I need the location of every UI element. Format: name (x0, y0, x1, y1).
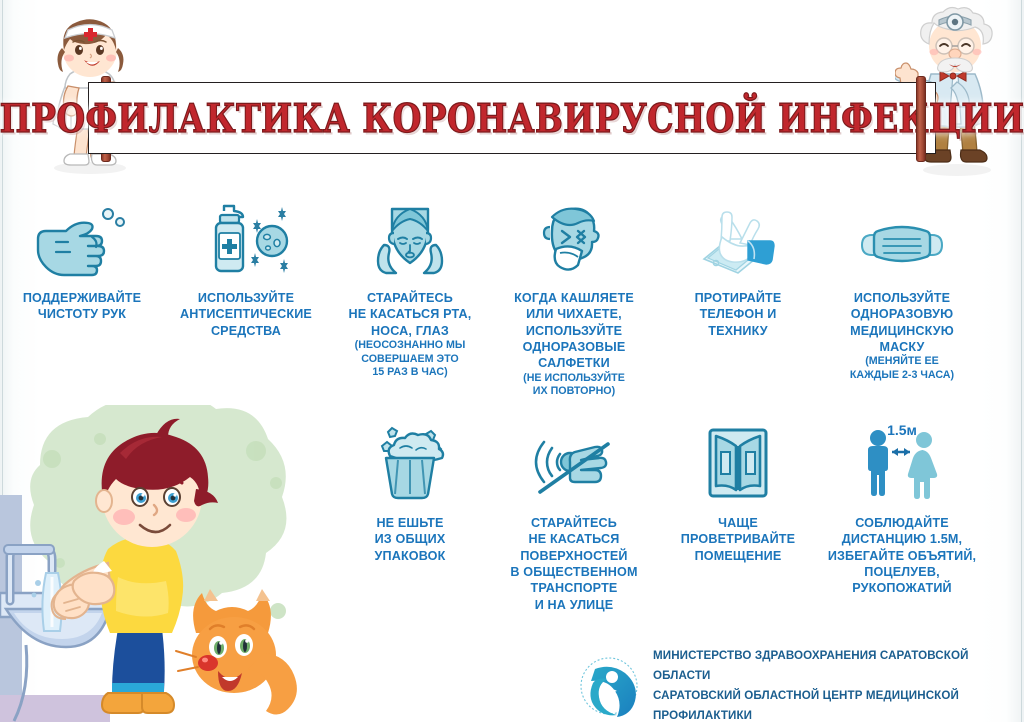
caption-line-3: НОСА, ГЛАЗ (371, 324, 449, 338)
caption-line-6: И НА УЛИЦЕ (535, 598, 614, 612)
caption-line-2: АНТИСЕПТИЧЕСКИЕ (180, 307, 312, 321)
tip-card-sanitizer: ИСПОЛЬЗУЙТЕ АНТИСЕПТИЧЕСКИЕ СРЕДСТВА (164, 185, 328, 399)
tip-caption: СТАРАЙТЕСЬ НЕ КАСАТЬСЯ ПОВЕРХНОСТЕЙ В ОБ… (492, 515, 656, 613)
poster-root: ПРОФИЛАКТИКА КОРОНАВИРУСНОЙ ИНФЕКЦИИ ПОД… (0, 0, 1024, 722)
caption-line-1: НЕ ЕШЬТЕ (376, 516, 443, 530)
tip-card-social-distance: 1.5м СОБЛЮДАЙТЕ ДИСТАНЦИЮ 1.5м, ИЗБЕГАЙТ… (820, 410, 984, 613)
social-distance-icon: 1.5м (850, 410, 954, 502)
caption-line-1: ИСПОЛЬЗУЙТЕ (854, 291, 950, 305)
caption-line-4: ОДНОРАЗОВЫЕ САЛФЕТКИ (523, 340, 626, 370)
caption-line-1: ИСПОЛЬЗУЙТЕ (198, 291, 294, 305)
caption-sub-1: (МЕНЯЙТЕ ЕЕ (820, 355, 984, 369)
wipe-phone-icon (686, 185, 790, 277)
sanitizer-bottle-icon (194, 185, 298, 277)
tip-card-no-touch-surfaces: СТАРАЙТЕСЬ НЕ КАСАТЬСЯ ПОВЕРХНОСТЕЙ В ОБ… (492, 410, 656, 613)
caption-line-2: ИЗ ОБЩИХ (375, 532, 446, 546)
footer-line-2: САРАТОВСКИЙ ОБЛАСТНОЙ ЦЕНТР МЕДИЦИНСКОЙ … (653, 686, 1005, 722)
caption-sub-1: (НЕОСОЗНАННО МЫ (328, 339, 492, 353)
tip-caption: ПОДДЕРЖИВАЙТЕ ЧИСТОТУ РУК (0, 290, 164, 323)
caption-line-5: РУКОПОЖАТИЙ (852, 581, 952, 595)
tip-caption: ЧАЩЕ ПРОВЕТРИВАЙТЕ ПОМЕЩЕНИЕ (656, 515, 820, 564)
banner-pole-right (916, 76, 926, 162)
caption-line-3: ИСПОЛЬЗУЙТЕ (526, 324, 622, 338)
popcorn-bucket-icon (358, 410, 462, 502)
tip-caption: ПРОТИРАЙТЕ ТЕЛЕФОН И ТЕХНИКУ (656, 290, 820, 339)
caption-line-1: СОБЛЮДАЙТЕ (855, 516, 949, 530)
do-not-touch-face-icon (358, 185, 462, 277)
caption-line-3: СРЕДСТВА (211, 324, 281, 338)
caption-line-4: ПОЦЕЛУЕВ, (864, 565, 939, 579)
tip-caption: СТАРАЙТЕСЬ НЕ КАСАТЬСЯ РТА, НОСА, ГЛАЗ (… (328, 290, 492, 380)
caption-line-3: ТЕХНИКУ (708, 324, 768, 338)
open-window-icon (686, 410, 790, 502)
tip-card-wipe-phone: ПРОТИРАЙТЕ ТЕЛЕФОН И ТЕХНИКУ (656, 185, 820, 399)
tip-caption: СОБЛЮДАЙТЕ ДИСТАНЦИЮ 1.5м, ИЗБЕГАЙТЕ ОБЪ… (820, 515, 984, 597)
caption-line-5: ТРАНСПОРТЕ (531, 581, 618, 595)
caption-line-3: ИЗБЕГАЙТЕ ОБЪЯТИЙ, (828, 549, 976, 563)
boy-washing-hands-illustration (0, 405, 330, 722)
caption-line-2: НЕ КАСАТЬСЯ РТА, (349, 307, 472, 321)
caption-line-2: ЧИСТОТУ РУК (38, 307, 126, 321)
ministry-health-logo (575, 655, 643, 717)
caption-line-2: ТЕЛЕФОН И (700, 307, 777, 321)
caption-line-1: ПОДДЕРЖИВАЙТЕ (23, 291, 141, 305)
sneeze-into-tissue-icon (522, 185, 626, 277)
caption-line-1: СТАРАЙТЕСЬ (367, 291, 453, 305)
caption-line-2: ДИСТАНЦИЮ 1.5м, (842, 532, 962, 546)
caption-line-3: ПОВЕРХНОСТЕЙ (520, 549, 627, 563)
caption-line-3: МЕДИЦИНСКУЮ (850, 324, 954, 338)
caption-line-2: НЕ КАСАТЬСЯ (529, 532, 620, 546)
caption-line-4: МАСКУ (880, 340, 925, 354)
tip-card-medical-mask: ИСПОЛЬЗУЙТЕ ОДНОРАЗОВУЮ МЕДИЦИНСКУЮ МАСК… (820, 185, 984, 399)
caption-line-3: УПАКОВОК (375, 549, 446, 563)
no-touch-surfaces-icon (522, 410, 626, 502)
hand-washing-icon (30, 185, 134, 277)
caption-line-3: ПОМЕЩЕНИЕ (695, 549, 782, 563)
header-banner: ПРОФИЛАКТИКА КОРОНАВИРУСНОЙ ИНФЕКЦИИ (0, 0, 1024, 180)
caption-line-1: ЧАЩЕ (718, 516, 758, 530)
caption-line-2: ПРОВЕТРИВАЙТЕ (681, 532, 795, 546)
caption-sub-3: 15 РАЗ В ЧАС) (328, 366, 492, 380)
caption-line-1: КОГДА КАШЛЯЕТЕ (514, 291, 634, 305)
tip-caption: ИСПОЛЬЗУЙТЕ ОДНОРАЗОВУЮ МЕДИЦИНСКУЮ МАСК… (820, 290, 984, 383)
tip-card-dont-touch-face: СТАРАЙТЕСЬ НЕ КАСАТЬСЯ РТА, НОСА, ГЛАЗ (… (328, 185, 492, 399)
tips-row-1: ПОДДЕРЖИВАЙТЕ ЧИСТОТУ РУК (0, 185, 1024, 399)
footer-text: МИНИСТЕРСТВО ЗДРАВООХРАНЕНИЯ САРАТОВСКОЙ… (653, 646, 1005, 722)
caption-line-4: В ОБЩЕСТВЕННОМ (510, 565, 637, 579)
page-title: ПРОФИЛАКТИКА КОРОНАВИРУСНОЙ ИНФЕКЦИИ (88, 78, 936, 158)
caption-line-1: ПРОТИРАЙТЕ (695, 291, 782, 305)
footer-line-1: МИНИСТЕРСТВО ЗДРАВООХРАНЕНИЯ САРАТОВСКОЙ… (653, 646, 1005, 686)
caption-line-2: ИЛИ ЧИХАЕТЕ, (526, 307, 622, 321)
caption-sub-2: СОВЕРШАЕМ ЭТО (328, 353, 492, 367)
tip-caption: ИСПОЛЬЗУЙТЕ АНТИСЕПТИЧЕСКИЕ СРЕДСТВА (164, 290, 328, 339)
caption-sub-2: КАЖДЫЕ 2-3 ЧАСА) (820, 369, 984, 383)
tip-caption: КОГДА КАШЛЯЕТЕ ИЛИ ЧИХАЕТЕ, ИСПОЛЬЗУЙТЕ … (492, 290, 656, 399)
tip-card-hand-washing: ПОДДЕРЖИВАЙТЕ ЧИСТОТУ РУК (0, 185, 164, 399)
tip-card-sneeze-tissue: КОГДА КАШЛЯЕТЕ ИЛИ ЧИХАЕТЕ, ИСПОЛЬЗУЙТЕ … (492, 185, 656, 399)
caption-sub-1: (НЕ ИСПОЛЬЗУЙТЕ (492, 372, 656, 386)
distance-label: 1.5м (887, 422, 917, 438)
tip-caption: НЕ ЕШЬТЕ ИЗ ОБЩИХ УПАКОВОК (328, 515, 492, 564)
tip-card-no-shared-food: НЕ ЕШЬТЕ ИЗ ОБЩИХ УПАКОВОК (328, 410, 492, 613)
caption-line-2: ОДНОРАЗОВУЮ (851, 307, 954, 321)
caption-sub-2: ИХ ПОВТОРНО) (492, 385, 656, 399)
tip-card-ventilate-room: ЧАЩЕ ПРОВЕТРИВАЙТЕ ПОМЕЩЕНИЕ (656, 410, 820, 613)
medical-mask-icon (850, 185, 954, 277)
footer: МИНИСТЕРСТВО ЗДРАВООХРАНЕНИЯ САРАТОВСКОЙ… (575, 655, 1005, 717)
caption-line-1: СТАРАЙТЕСЬ (531, 516, 617, 530)
